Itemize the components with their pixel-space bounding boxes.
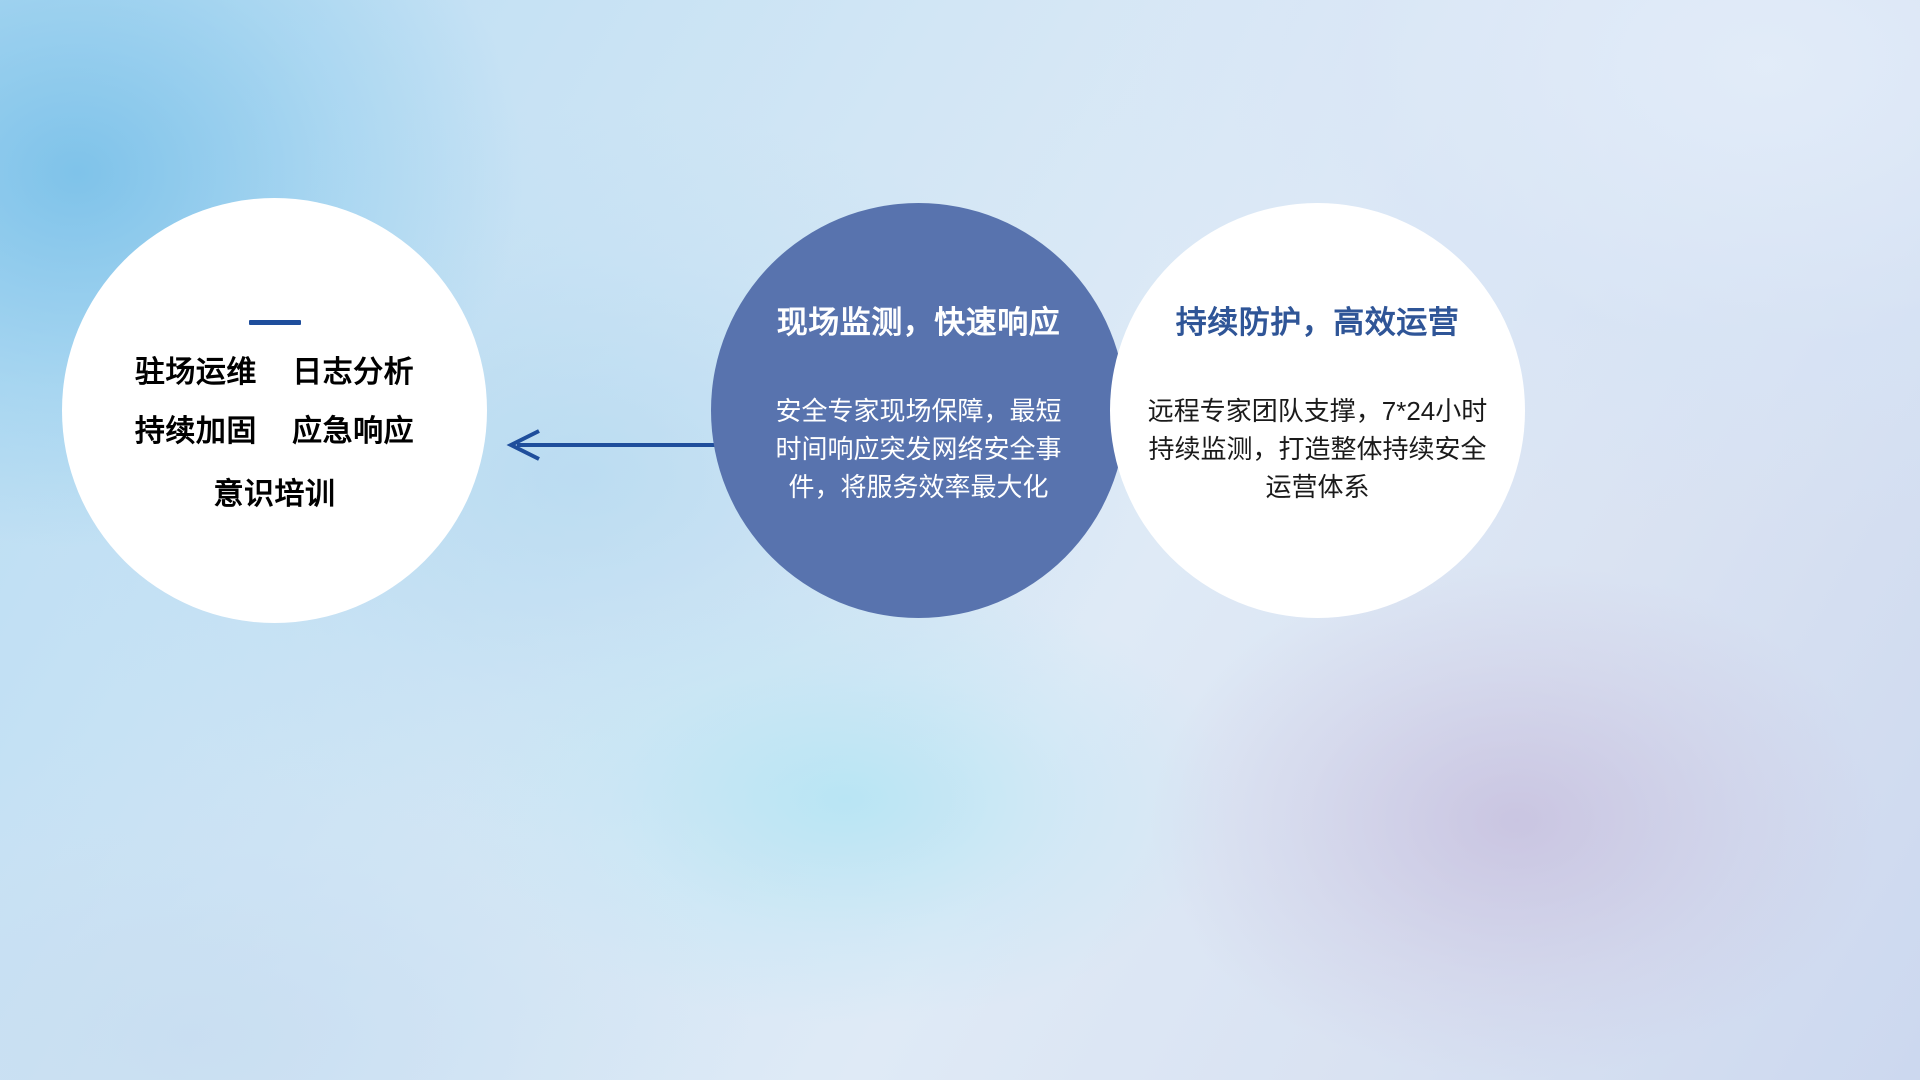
continuous-protection-body: 远程专家团队支撑，7*24小时持续监测，打造整体持续安全运营体系 [1145, 393, 1490, 507]
services-line-1: 驻场运维 日志分析 [62, 358, 487, 388]
services-line-2: 持续加固 应急响应 [62, 417, 487, 447]
services-line-3: 意识培训 [62, 480, 487, 510]
continuous-protection-title: 持续防护，高效运营 [1176, 297, 1460, 342]
services-list: 驻场运维 日志分析 持续加固 应急响应 意识培训 [62, 358, 487, 510]
slide-canvas: 驻场运维 日志分析 持续加固 应急响应 意识培训 现场监测，快速响应 安全专家现… [0, 0, 1920, 1080]
services-circle[interactable]: 驻场运维 日志分析 持续加固 应急响应 意识培训 [62, 198, 487, 623]
continuous-protection-circle[interactable]: 持续防护，高效运营 远程专家团队支撑，7*24小时持续监测，打造整体持续安全运营… [1110, 203, 1525, 618]
divider-dash-icon [249, 320, 301, 325]
onsite-monitoring-circle[interactable]: 现场监测，快速响应 安全专家现场保障，最短时间响应突发网络安全事件，将服务效率最… [711, 203, 1126, 618]
onsite-monitoring-body: 安全专家现场保障，最短时间响应突发网络安全事件，将服务效率最大化 [764, 393, 1074, 507]
onsite-monitoring-title: 现场监测，快速响应 [777, 297, 1061, 342]
